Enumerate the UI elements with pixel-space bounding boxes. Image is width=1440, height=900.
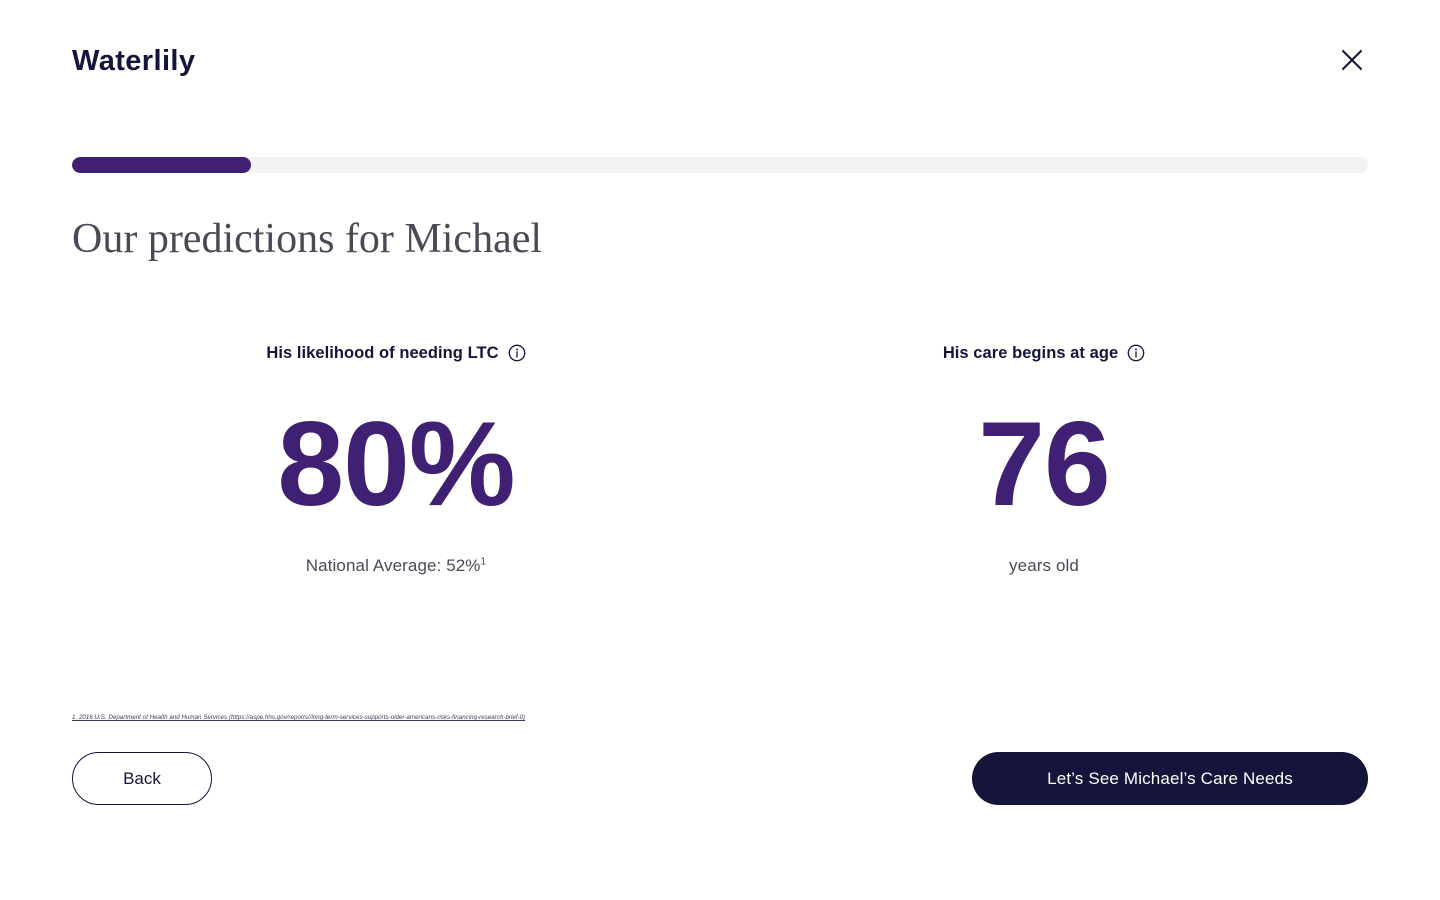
footnote-source[interactable]: 1. 2016 U.S. Department of Health and Hu… [72,714,525,723]
back-button[interactable]: Back [72,752,212,805]
metric-care-age-header: His care begins at age [943,340,1145,366]
metric-care-age-subtext: years old [1009,556,1079,576]
footnote-marker: 1 [481,556,487,567]
metric-likelihood-subtext-label: National Average: 52% [306,556,481,575]
info-icon[interactable] [508,344,526,362]
close-icon [1339,47,1365,73]
metric-care-age-value: 76 [978,408,1109,520]
page-title: Our predictions for Michael [72,214,542,264]
close-button[interactable] [1336,44,1368,76]
prediction-screen: Waterlily Our predictions for Michael Hi… [0,0,1440,900]
app-logo: Waterlily [72,46,195,78]
info-icon[interactable] [1127,344,1145,362]
metric-likelihood-value: 80% [277,408,514,520]
progress-bar-track [72,157,1368,173]
metric-likelihood-header: His likelihood of needing LTC [266,340,525,366]
metric-likelihood-subtext: National Average: 52%1 [306,556,486,576]
progress-bar-fill [72,157,251,173]
metrics-row: His likelihood of needing LTC 80% Nation… [72,340,1368,576]
metric-likelihood: His likelihood of needing LTC 80% Nation… [72,340,720,576]
continue-button[interactable]: Let’s See Michael’s Care Needs [972,752,1368,805]
metric-care-age-label: His care begins at age [943,344,1118,363]
metric-likelihood-label: His likelihood of needing LTC [266,344,498,363]
metric-care-age: His care begins at age 76 years old [720,340,1368,576]
